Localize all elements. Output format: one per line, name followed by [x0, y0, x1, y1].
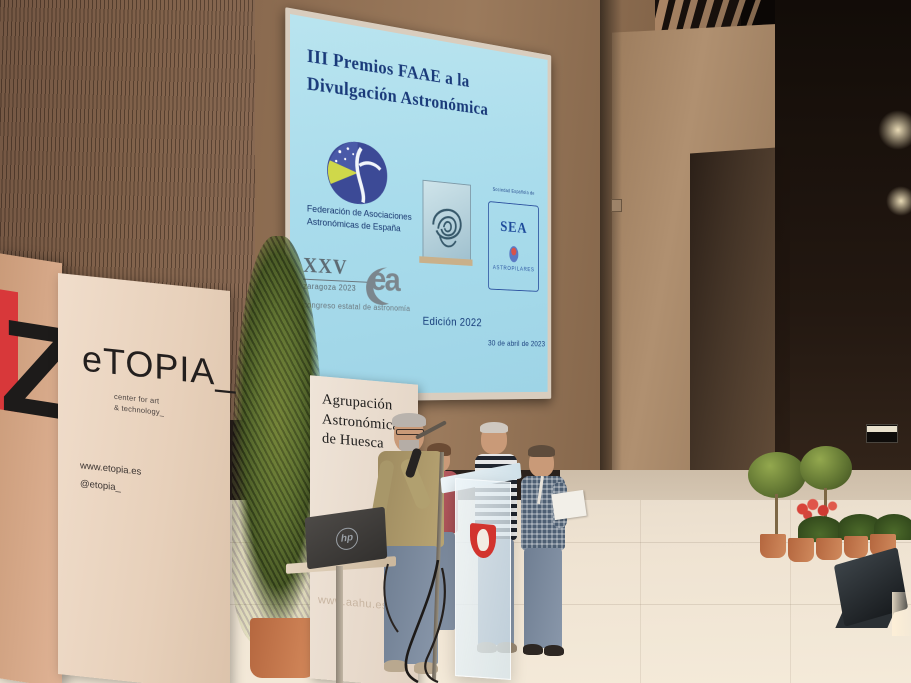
hair — [392, 413, 426, 427]
faae-logo-icon — [323, 136, 390, 211]
terracotta-pot-4 — [844, 536, 868, 558]
cea-wordmark: ea — [370, 261, 399, 300]
slide-surface: III Premios FAAE a la Divulgación Astron… — [290, 14, 548, 394]
faae-caption: Federación de Asociaciones Astronómicas … — [307, 203, 413, 236]
laptop-table-leg — [336, 566, 343, 683]
sea-small-label: Sociedad Española de — [491, 187, 536, 197]
terracotta-pot-1 — [760, 534, 786, 558]
aah-website: www.aahu.es — [318, 594, 388, 612]
emergency-exit-light-icon — [866, 424, 898, 443]
wall-speaker-icon — [611, 199, 622, 212]
cea-congress-logo: XXV zaragoza 2023 congreso estatal de as… — [303, 253, 434, 326]
printed-papers — [551, 490, 586, 520]
award-trophy-image — [423, 180, 471, 263]
cypress-terracotta-pot — [250, 618, 316, 678]
conference-photo-scene: III Premios FAAE a la Divulgación Astron… — [0, 0, 911, 683]
slide-date-label: 30 de abril de 2023 — [488, 338, 545, 348]
etopia-wordmark: eTOPIA_ — [82, 337, 236, 395]
hair — [480, 422, 508, 433]
slide-title: III Premios FAAE a la Divulgación Astron… — [307, 43, 545, 131]
slide-edition-label: Edición 2022 — [423, 314, 482, 329]
exit-light-glow — [867, 426, 897, 432]
etopia-tagline: center for art & technology_ — [114, 391, 164, 419]
projection-screen: III Premios FAAE a la Divulgación Astron… — [290, 14, 548, 394]
topiary-plant-2 — [800, 446, 852, 490]
ceiling-light-glow — [878, 110, 911, 150]
terracotta-pot-2 — [788, 538, 814, 562]
monitor-light-reflection — [892, 592, 911, 636]
sea-logo-box: SEA ASTROPILARES — [488, 201, 539, 292]
hp-logo-icon: hp — [335, 526, 358, 551]
topiary-plant-1 — [748, 452, 806, 498]
etopia-contact: www.etopia.es @etopia_ — [80, 457, 141, 500]
legs — [524, 548, 562, 648]
lion-rampant-shape — [477, 528, 489, 551]
ceiling-light-glow-2 — [886, 186, 911, 216]
shoe-left — [523, 644, 543, 655]
shoe-right — [544, 645, 564, 656]
spiral-galaxy-icon — [423, 181, 470, 262]
aah-title: Agrupación Astronómica de Huesca — [322, 390, 399, 455]
hair — [528, 445, 555, 457]
sea-wordmark: SEA — [489, 216, 538, 238]
terracotta-pot-3 — [816, 538, 842, 560]
astropilares-icon — [489, 242, 538, 268]
banner-etopia: eTOPIA_ center for art & technology_ www… — [58, 273, 230, 683]
banner-zaragoza: Z — [0, 253, 62, 683]
floor-cables — [380, 560, 520, 683]
